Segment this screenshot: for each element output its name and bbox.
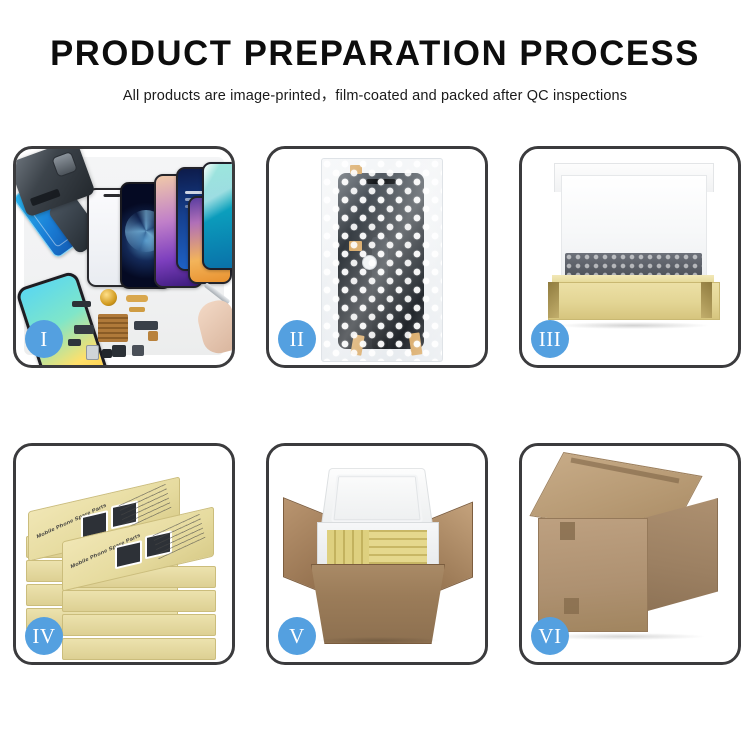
page-subtitle: All products are image-printed，film-coat… xyxy=(0,84,750,105)
header: PRODUCT PREPARATION PROCESS All products… xyxy=(0,0,750,105)
box-window-screen-3 xyxy=(115,540,142,569)
stacked-box-front-3 xyxy=(62,614,216,636)
small-part-4 xyxy=(148,331,158,341)
plastic-sheen-overlay xyxy=(322,159,442,361)
vibration-motor-part xyxy=(100,289,117,306)
step-badge-2: II xyxy=(278,320,316,358)
small-part-5 xyxy=(102,349,112,358)
box-shadow xyxy=(558,322,708,329)
small-part-3 xyxy=(132,345,144,356)
box-label-spec-lines-front xyxy=(153,514,206,560)
box-left-corner xyxy=(548,282,559,318)
carton-front-face xyxy=(538,518,648,632)
process-step-panel-2: II xyxy=(266,146,488,368)
small-part-2 xyxy=(112,345,126,357)
process-step-panel-4: Mobile Phone Spare Parts Mobile Phone Sp… xyxy=(13,443,235,665)
process-panel-grid: I II xyxy=(13,146,741,665)
speaker-module-part xyxy=(72,301,91,307)
flex-cable-1 xyxy=(126,295,148,302)
process-step-panel-5: V xyxy=(266,443,488,665)
flex-cable-5 xyxy=(68,339,81,346)
flex-cable-3 xyxy=(134,321,158,330)
box-front-panel xyxy=(548,282,720,320)
flex-cable-2 xyxy=(129,307,145,312)
small-part-1 xyxy=(86,345,99,360)
step-badge-1: I xyxy=(25,320,63,358)
box-right-corner xyxy=(701,282,712,318)
flex-cable-4 xyxy=(74,325,94,334)
carton-tab-upper xyxy=(560,522,575,540)
step-badge-4: IV xyxy=(25,617,63,655)
carton-tab-lower xyxy=(564,598,579,614)
stacked-box-front-4 xyxy=(62,638,216,660)
logic-board-chip xyxy=(98,314,128,342)
step-badge-3: III xyxy=(531,320,569,358)
carton-shadow xyxy=(317,637,439,644)
process-step-panel-6: VI xyxy=(519,443,741,665)
step-badge-6: VI xyxy=(531,617,569,655)
process-step-panel-1: I xyxy=(13,146,235,368)
phone-display-teal xyxy=(202,162,232,270)
bubble-wrap-bag xyxy=(321,158,443,362)
process-step-panel-3: III xyxy=(519,146,741,368)
stacked-box-front-2 xyxy=(62,590,216,612)
step-badge-5: V xyxy=(278,617,316,655)
page-title: PRODUCT PREPARATION PROCESS xyxy=(4,36,747,73)
carton-body xyxy=(311,564,445,644)
